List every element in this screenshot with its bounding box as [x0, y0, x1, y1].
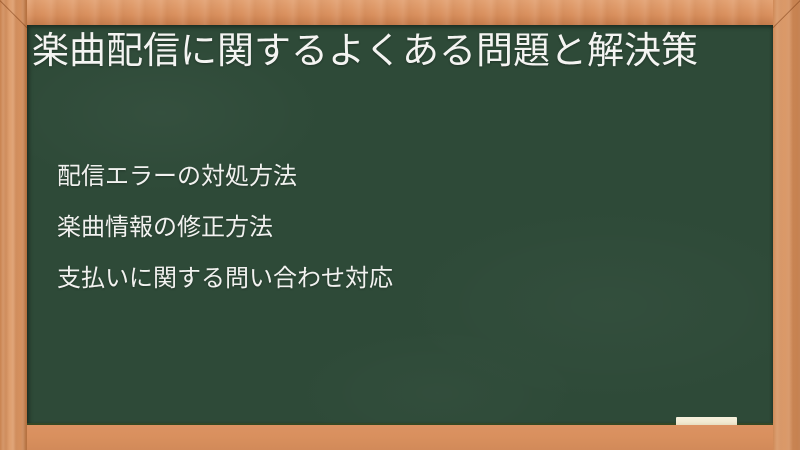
chalk-stick-icon [676, 417, 737, 425]
frame-ledge-bottom [0, 425, 800, 450]
frame-stile-left [0, 0, 27, 450]
page-title: 楽曲配信に関するよくある問題と解決策 [32, 27, 732, 74]
list-item: 配信エラーの対処方法 [57, 151, 727, 202]
topic-list: 配信エラーの対処方法 楽曲情報の修正方法 支払いに関する問い合わせ対応 [57, 151, 727, 304]
blackboard-slide: 楽曲配信に関するよくある問題と解決策 配信エラーの対処方法 楽曲情報の修正方法 … [0, 0, 800, 450]
frame-rail-top [0, 0, 800, 25]
blackboard-surface: 楽曲配信に関するよくある問題と解決策 配信エラーの対処方法 楽曲情報の修正方法 … [27, 25, 773, 425]
frame-stile-right [773, 0, 800, 450]
list-item: 楽曲情報の修正方法 [57, 202, 727, 253]
board-bottom-seam [27, 423, 773, 425]
blackboard-content: 楽曲配信に関するよくある問題と解決策 配信エラーの対処方法 楽曲情報の修正方法 … [27, 25, 773, 425]
list-item: 支払いに関する問い合わせ対応 [57, 253, 727, 304]
